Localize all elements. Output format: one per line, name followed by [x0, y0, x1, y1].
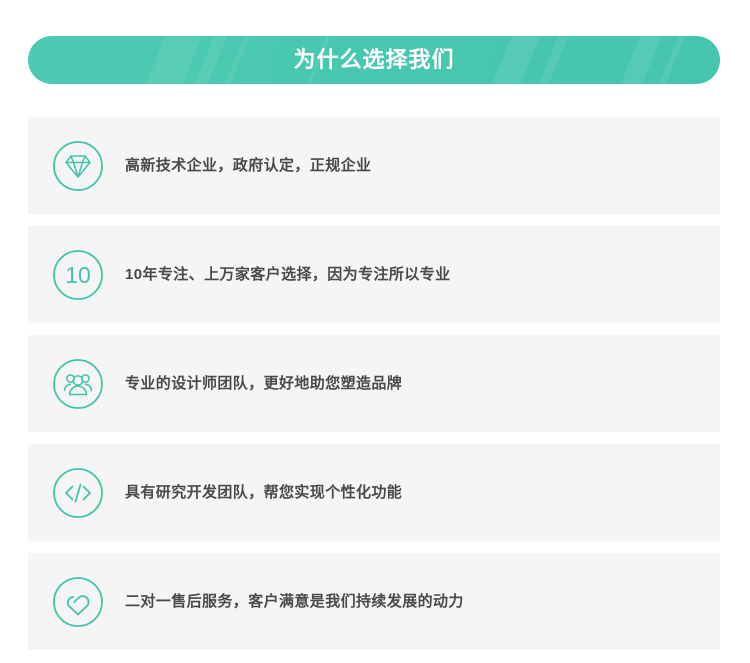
list-item-label: 10年专注、上万家客户选择，因为专注所以专业: [125, 264, 451, 285]
list-item: 高新技术企业，政府认定，正规企业: [28, 117, 720, 214]
page-title: 为什么选择我们: [28, 36, 720, 84]
why-choose-us-page: 为什么选择我们 高新技术企业，政府认定，正规企业 10 10年专注、上万家客户选…: [0, 0, 750, 663]
list-item: 二对一售后服务，客户满意是我们持续发展的动力: [28, 553, 720, 650]
list-item: 专业的设计师团队，更好地助您塑造品牌: [28, 335, 720, 432]
team-people-icon: [52, 358, 104, 410]
list-item-label: 二对一售后服务，客户满意是我们持续发展的动力: [125, 591, 464, 612]
code-brackets-icon: [52, 467, 104, 519]
section-header-banner: 为什么选择我们: [28, 36, 720, 84]
number-ten-icon: 10: [52, 249, 104, 301]
feature-list: 高新技术企业，政府认定，正规企业 10 10年专注、上万家客户选择，因为专注所以…: [28, 117, 720, 662]
diamond-icon: [52, 140, 104, 192]
list-item: 具有研究开发团队，帮您实现个性化功能: [28, 444, 720, 541]
list-item-label: 具有研究开发团队，帮您实现个性化功能: [125, 482, 402, 503]
heart-icon: [52, 576, 104, 628]
list-item-label: 高新技术企业，政府认定，正规企业: [125, 155, 371, 176]
list-item-label: 专业的设计师团队，更好地助您塑造品牌: [125, 373, 402, 394]
list-item: 10 10年专注、上万家客户选择，因为专注所以专业: [28, 226, 720, 323]
number-ten-label: 10: [65, 262, 91, 288]
